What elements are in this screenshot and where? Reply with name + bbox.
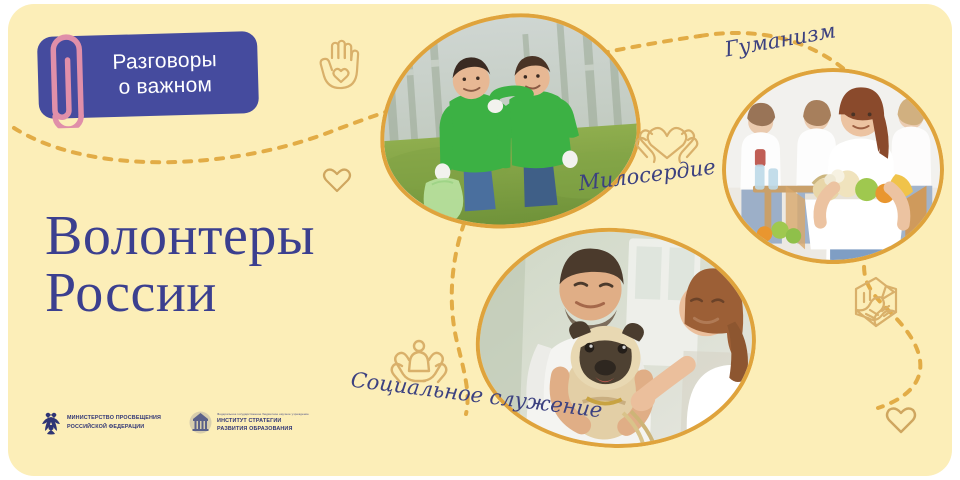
photo-animal-shelter <box>472 223 760 453</box>
ministry-line2: РОССИЙСКОЙ ФЕДЕРАЦИИ <box>67 423 161 431</box>
page-title-line1: Волонтеры <box>45 208 465 265</box>
page-title-line2: России <box>45 265 465 322</box>
logo-ministry-of-education: МИНИСТЕРСТВО ПРОСВЕЩЕНИЯ РОССИЙСКОЙ ФЕДЕ… <box>40 411 161 435</box>
photo-frame-ring <box>722 68 944 264</box>
institute-line1: ИНСТИТУТ СТРАТЕГИИ <box>217 417 309 425</box>
paperclip-icon <box>41 23 98 128</box>
institute-line2: РАЗВИТИЯ ОБРАЗОВАНИЯ <box>217 425 309 433</box>
logo-badge-line2: о важном <box>118 73 212 100</box>
ministry-line1: МИНИСТЕРСТВО ПРОСВЕЩЕНИЯ <box>67 414 161 422</box>
poster: Разговоры о важном Волонтеры России Гума… <box>0 0 960 480</box>
institute-building-icon <box>189 410 212 435</box>
double-headed-eagle-icon <box>40 411 62 435</box>
institute-tiny-line: Федеральное государственное бюджетное на… <box>217 412 309 416</box>
page-title: Волонтеры России <box>45 208 465 322</box>
photo-volunteers-park <box>372 5 647 237</box>
institute-logo-text: Федеральное государственное бюджетное на… <box>217 412 309 433</box>
ministry-logo-text: МИНИСТЕРСТВО ПРОСВЕЩЕНИЯ РОССИЙСКОЙ ФЕДЕ… <box>67 414 161 430</box>
footer-logos: МИНИСТЕРСТВО ПРОСВЕЩЕНИЯ РОССИЙСКОЙ ФЕДЕ… <box>40 410 309 435</box>
photo-food-donation <box>722 68 944 264</box>
logo-badge-line1: Разговоры <box>112 49 217 76</box>
logo-institute-of-education-strategy: Федеральное государственное бюджетное на… <box>189 410 309 435</box>
